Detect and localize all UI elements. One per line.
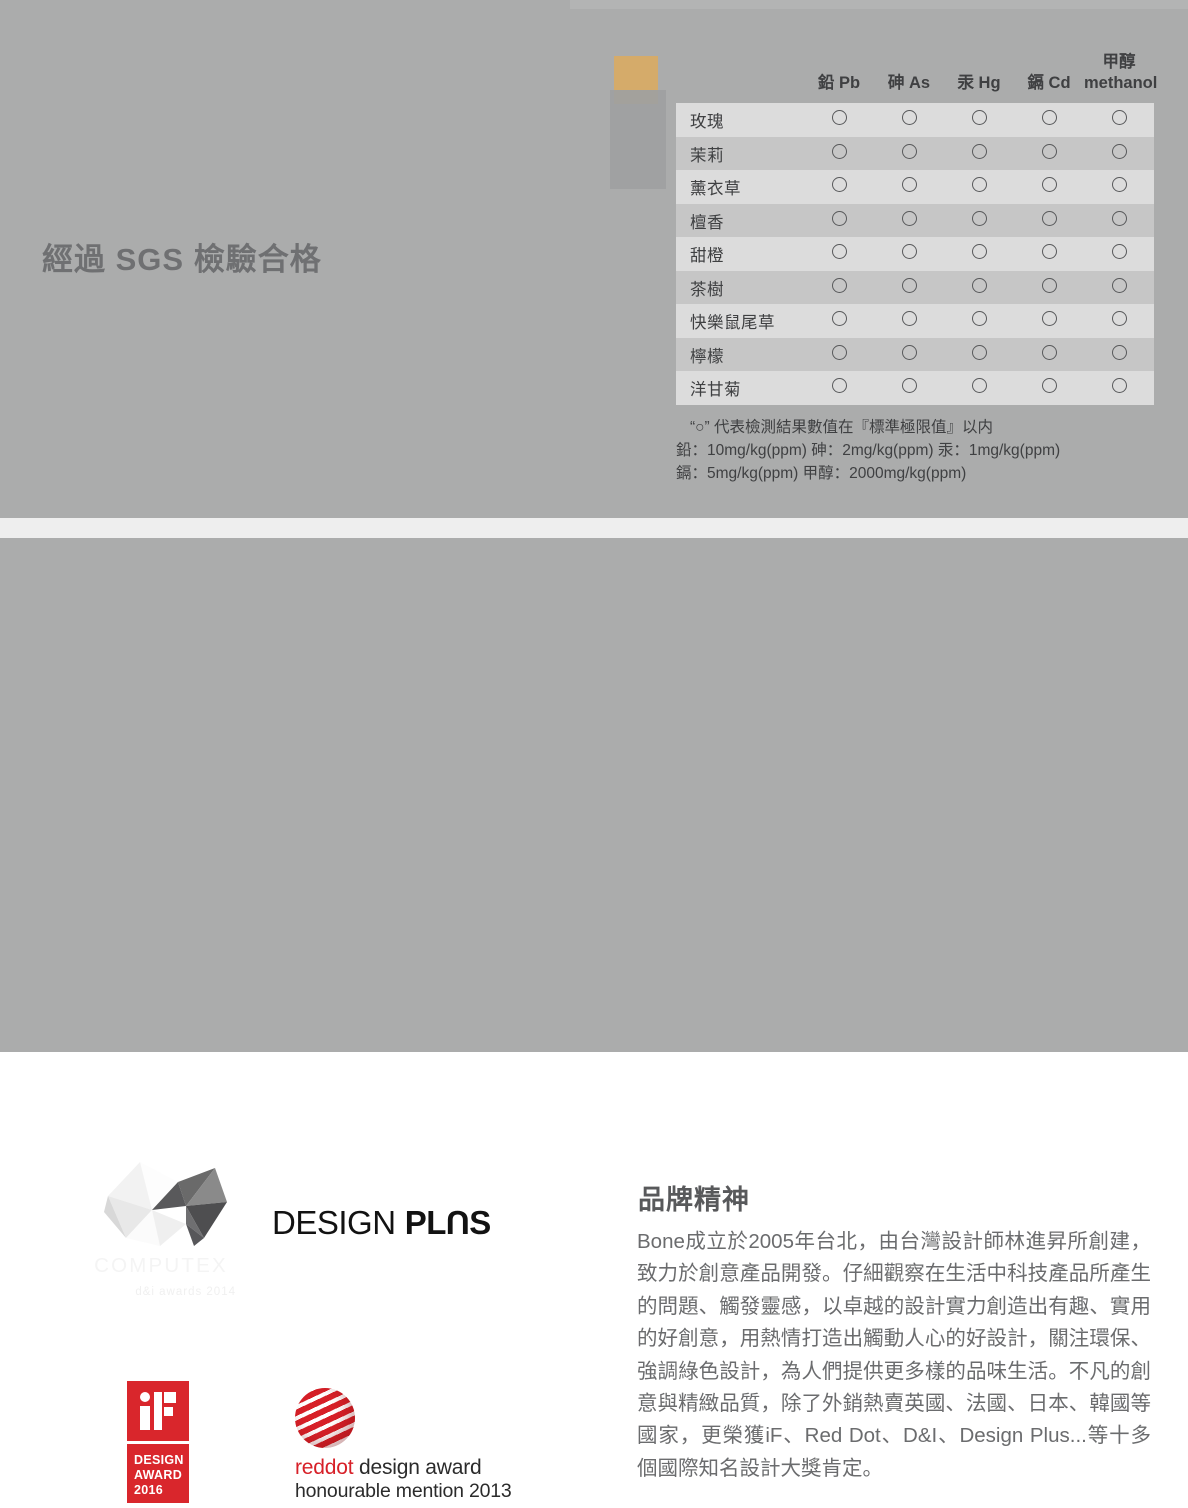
pass-circle-icon: [1112, 177, 1127, 192]
pass-circle-icon: [972, 378, 987, 393]
table-header: 鉛 Pb 砷 As 汞 Hg 鎘 Cd: [676, 52, 1154, 103]
pass-circle-icon: [1112, 345, 1127, 360]
result-cell: [874, 271, 944, 305]
column-header-hg-zh: 汞: [957, 74, 974, 92]
product-body: [610, 90, 666, 189]
pass-circle-icon: [1042, 144, 1057, 159]
column-header-pb-zh: 鉛: [818, 74, 835, 92]
result-cell: [804, 204, 874, 238]
pass-circle-icon: [1042, 110, 1057, 125]
reddot-wordmark: reddot design award: [295, 1456, 482, 1480]
pass-circle-icon: [1042, 211, 1057, 226]
result-cell: [1084, 371, 1154, 405]
reddot-red-word-2: dot: [325, 1456, 354, 1479]
result-cell: [1084, 304, 1154, 338]
pass-circle-icon: [1042, 345, 1057, 360]
pass-circle-icon: [902, 378, 917, 393]
result-cell: [804, 103, 874, 137]
if-award-text-block: DESIGN AWARD 2016: [127, 1444, 189, 1503]
result-cell: [874, 170, 944, 204]
result-cell: [1084, 103, 1154, 137]
column-header-pb: 鉛 Pb: [804, 52, 874, 103]
result-cell: [804, 271, 874, 305]
result-cell: [944, 137, 1014, 171]
pass-circle-icon: [832, 211, 847, 226]
pass-circle-icon: [972, 211, 987, 226]
brand-spirit-title: 品牌精神: [638, 1178, 750, 1217]
row-label: 薰衣草: [676, 170, 804, 204]
header-spacer: [676, 52, 804, 103]
if-i-stem-icon: [140, 1406, 150, 1430]
pass-circle-icon: [902, 177, 917, 192]
pass-circle-icon: [902, 144, 917, 159]
result-cell: [874, 103, 944, 137]
column-header-as-zh: 砷: [888, 74, 905, 92]
pass-circle-icon: [1112, 211, 1127, 226]
pass-circle-icon: [832, 278, 847, 293]
pass-circle-icon: [832, 177, 847, 192]
pass-circle-icon: [832, 311, 847, 326]
pass-circle-icon: [1042, 177, 1057, 192]
footnote-line-2: 鉛：10mg/kg(ppm) 砷：2mg/kg(ppm) 汞：1mg/kg(pp…: [676, 440, 1060, 463]
column-header-cd: 鎘 Cd: [1014, 52, 1084, 103]
table-row: 玫瑰: [676, 103, 1154, 137]
result-cell: [1084, 237, 1154, 271]
if-f-mid-bar-icon: [164, 1407, 173, 1416]
sgs-headline: 經過 SGS 檢驗合格: [42, 234, 322, 279]
sgs-footnotes: “○” 代表檢測結果數值在『標準極限值』以内 鉛：10mg/kg(ppm) 砷：…: [676, 417, 1060, 486]
table-row: 茉莉: [676, 137, 1154, 171]
column-header-as-en: As: [909, 74, 930, 92]
column-header-pb-en: Pb: [839, 74, 860, 92]
computex-wordmark: COMPUTEX: [82, 1254, 240, 1278]
pass-circle-icon: [902, 110, 917, 125]
result-cell: [1014, 338, 1084, 372]
row-label: 玫瑰: [676, 103, 804, 137]
result-cell: [874, 204, 944, 238]
row-label: 檀香: [676, 204, 804, 238]
pass-circle-icon: [972, 311, 987, 326]
pass-circle-icon: [1042, 378, 1057, 393]
design-plus-light-word: DESIGN: [272, 1204, 396, 1241]
column-header-cd-en: Cd: [1049, 74, 1071, 92]
result-cell: [1014, 371, 1084, 405]
table-row: 檀香: [676, 204, 1154, 238]
table-body: 玫瑰 茉莉 薰衣草: [676, 103, 1154, 405]
if-f-top-bar-icon: [164, 1392, 176, 1403]
pass-circle-icon: [972, 278, 987, 293]
pass-circle-icon: [972, 144, 987, 159]
if-logo-block: [127, 1381, 189, 1441]
reddot-red-word-1: red: [295, 1456, 325, 1479]
product-photo-band: [570, 0, 1188, 9]
pass-circle-icon: [1112, 311, 1127, 326]
result-cell: [874, 137, 944, 171]
row-label: 甜橙: [676, 237, 804, 271]
column-header-cd-zh: 鎘: [1027, 74, 1044, 92]
result-cell: [804, 338, 874, 372]
result-cell: [1084, 137, 1154, 171]
column-header-methanol: 甲醇 methanol: [1084, 52, 1154, 103]
pass-circle-icon: [972, 177, 987, 192]
pass-circle-icon: [902, 311, 917, 326]
product-thumbnail-image: [610, 56, 666, 189]
result-cell: [804, 137, 874, 171]
design-plus-bold-post: S: [469, 1204, 491, 1241]
table-row: 薰衣草: [676, 170, 1154, 204]
table-row: 檸檬: [676, 338, 1154, 372]
result-cell: [874, 338, 944, 372]
result-cell: [1014, 103, 1084, 137]
pass-circle-icon: [902, 244, 917, 259]
pass-circle-icon: [1042, 244, 1057, 259]
reddot-design-award-badge: reddot design award honourable mention 2…: [279, 1378, 493, 1508]
if-award-line-2: AWARD: [134, 1468, 189, 1483]
result-cell: [1014, 137, 1084, 171]
column-header-hg-en: Hg: [979, 74, 1001, 92]
column-header-methanol-zh: 甲醇: [1103, 53, 1136, 71]
result-cell: [804, 304, 874, 338]
table-row: 茶樹: [676, 271, 1154, 305]
row-label: 檸檬: [676, 338, 804, 372]
result-cell: [1084, 338, 1154, 372]
sgs-test-results-table: 鉛 Pb 砷 As 汞 Hg 鎘 Cd: [676, 52, 1154, 405]
section-divider: [0, 518, 1188, 538]
pass-circle-icon: [972, 345, 987, 360]
result-cell: [804, 371, 874, 405]
row-label: 快樂鼠尾草: [676, 304, 804, 338]
result-cell: [1084, 204, 1154, 238]
pass-circle-icon: [1042, 278, 1057, 293]
row-label: 茉莉: [676, 137, 804, 171]
reddot-mention-line: honourable mention 2013: [295, 1480, 512, 1503]
table-row: 洋甘菊: [676, 371, 1154, 405]
result-cell: [1084, 271, 1154, 305]
reddot-rest-word: design award: [353, 1456, 481, 1479]
footnote-line-3: 鎘：5mg/kg(ppm) 甲醇：2000mg/kg(ppm): [676, 463, 1060, 486]
pass-circle-icon: [902, 278, 917, 293]
if-design-award-badge: DESIGN AWARD 2016: [124, 1378, 192, 1506]
footnote-line-1: “○” 代表檢測結果數值在『標準極限值』以内: [676, 417, 1060, 440]
result-cell: [1014, 271, 1084, 305]
result-cell: [944, 237, 1014, 271]
sgs-certification-section: 經過 SGS 檢驗合格 鉛 Pb 砷 As 汞: [0, 0, 1188, 518]
result-cell: [874, 304, 944, 338]
row-label: 洋甘菊: [676, 371, 804, 405]
pass-circle-icon: [1112, 378, 1127, 393]
design-plus-bold-pre: PL: [405, 1204, 446, 1241]
pass-circle-icon: [972, 110, 987, 125]
pass-circle-icon: [832, 110, 847, 125]
computex-polygon-icon: [82, 1150, 240, 1270]
design-plus-logo: DESIGN PLUS: [272, 1206, 491, 1239]
table-row: 快樂鼠尾草: [676, 304, 1154, 338]
pass-circle-icon: [1112, 144, 1127, 159]
pass-circle-icon: [832, 244, 847, 259]
row-label: 茶樹: [676, 271, 804, 305]
table-row: 甜橙: [676, 237, 1154, 271]
if-award-line-1: DESIGN: [134, 1453, 189, 1468]
result-cell: [944, 204, 1014, 238]
pass-circle-icon: [902, 345, 917, 360]
pass-circle-icon: [832, 144, 847, 159]
if-award-year: 2016: [134, 1483, 189, 1498]
result-cell: [944, 271, 1014, 305]
pass-circle-icon: [832, 345, 847, 360]
result-cell: [1014, 304, 1084, 338]
pass-circle-icon: [902, 211, 917, 226]
result-cell: [944, 170, 1014, 204]
result-cell: [944, 304, 1014, 338]
result-cell: [804, 237, 874, 271]
brand-spirit-section: COMPUTEX d&i awards 2014 DESIGN PLUS DES…: [0, 538, 1188, 1052]
result-cell: [1014, 204, 1084, 238]
design-plus-inverted-u: U: [446, 1206, 469, 1239]
pass-circle-icon: [1042, 311, 1057, 326]
result-cell: [944, 371, 1014, 405]
result-cell: [874, 371, 944, 405]
table-header-row: 鉛 Pb 砷 As 汞 Hg 鎘 Cd: [676, 52, 1154, 103]
if-i-dot-icon: [140, 1392, 150, 1402]
test-table: 鉛 Pb 砷 As 汞 Hg 鎘 Cd: [676, 52, 1154, 405]
result-cell: [874, 237, 944, 271]
pass-circle-icon: [1112, 244, 1127, 259]
result-cell: [804, 170, 874, 204]
pass-circle-icon: [1112, 110, 1127, 125]
column-header-methanol-en: methanol: [1084, 74, 1157, 92]
result-cell: [944, 103, 1014, 137]
result-cell: [1014, 237, 1084, 271]
if-f-stem-icon: [154, 1392, 162, 1430]
result-cell: [1014, 170, 1084, 204]
result-cell: [1084, 170, 1154, 204]
column-header-hg: 汞 Hg: [944, 52, 1014, 103]
result-cell: [944, 338, 1014, 372]
computex-subtitle: d&i awards 2014: [82, 1286, 240, 1298]
reddot-sphere-icon: [295, 1388, 355, 1448]
brand-spirit-paragraph: Bone成立於2005年台北，由台灣設計師林進昇所創建，致力於創意產品開發。仔細…: [637, 1226, 1151, 1485]
pass-circle-icon: [832, 378, 847, 393]
pass-circle-icon: [972, 244, 987, 259]
computex-award-logo: COMPUTEX d&i awards 2014: [82, 1150, 240, 1300]
pass-circle-icon: [1112, 278, 1127, 293]
column-header-as: 砷 As: [874, 52, 944, 103]
